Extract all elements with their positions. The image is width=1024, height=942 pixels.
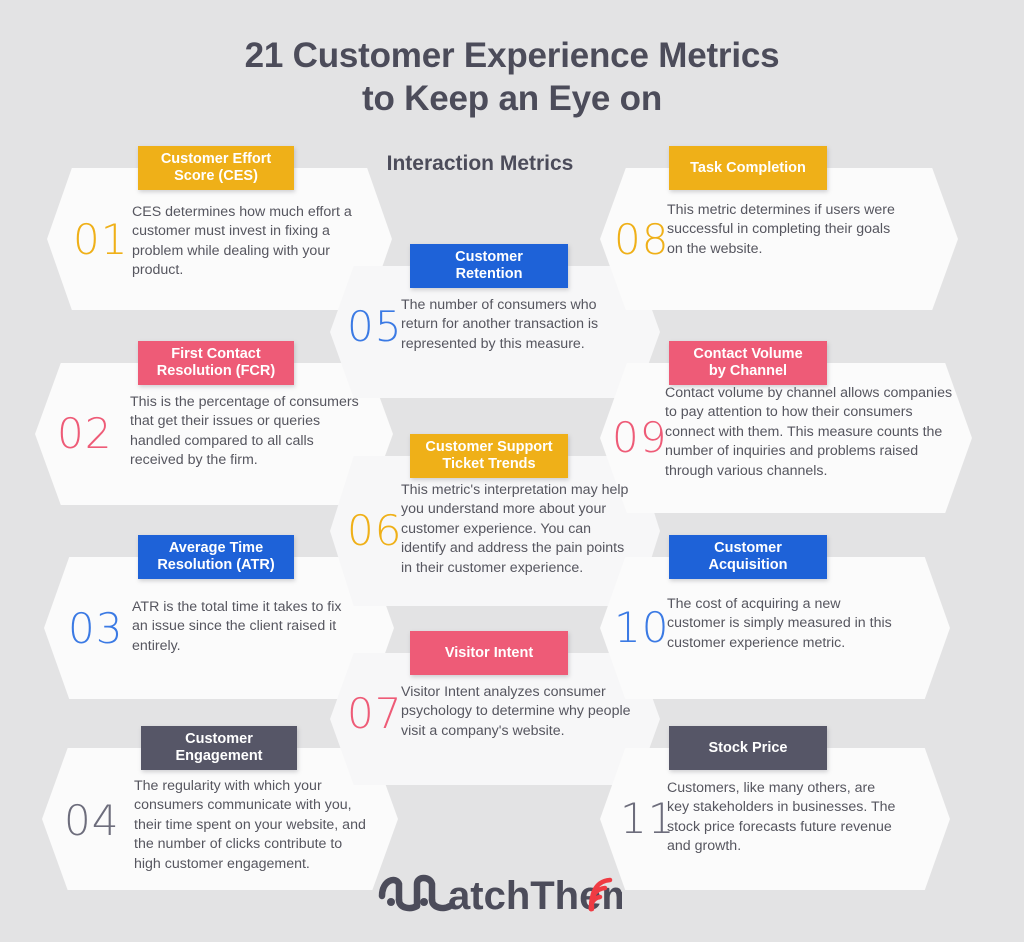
metric-description: ATR is the total time it takes to fix an… xyxy=(132,598,354,656)
metric-number: 09 xyxy=(612,417,667,459)
metric-number: 03 xyxy=(68,608,123,650)
metric-number: 01 xyxy=(73,219,128,261)
section-heading: Interaction Metrics xyxy=(330,152,630,176)
metric-description: Contact volume by channel allows compani… xyxy=(665,384,963,481)
metric-badge: Visitor Intent xyxy=(410,631,568,675)
badge-line-1: Stock Price xyxy=(709,740,788,757)
metric-description: Customers, like many others, are key sta… xyxy=(667,779,897,857)
metric-card-11[interactable]: Stock Price 11 Customers, like many othe… xyxy=(600,748,950,890)
metric-badge: Customer Effort Score (CES) xyxy=(138,146,294,190)
metric-card-10[interactable]: Customer Acquisition 10 The cost of acqu… xyxy=(600,557,950,699)
badge-line-1: Average Time xyxy=(169,540,263,557)
metric-number: 07 xyxy=(347,693,402,735)
metric-card-08[interactable]: Task Completion 08 This metric determine… xyxy=(600,168,958,310)
metric-description: CES determines how much effort a custome… xyxy=(132,203,354,281)
badge-line-1: Customer xyxy=(714,540,782,557)
badge-line-1: Customer Effort xyxy=(161,151,271,168)
badge-line-1: Customer xyxy=(185,731,253,748)
badge-line-1: Visitor Intent xyxy=(445,645,533,662)
badge-line-1: Contact Volume xyxy=(693,346,802,363)
page-title-line-1: 21 Customer Experience Metrics xyxy=(245,36,780,75)
metric-badge: Task Completion xyxy=(669,146,827,190)
badge-line-2: Resolution (FCR) xyxy=(157,363,275,380)
metric-badge: Average Time Resolution (ATR) xyxy=(138,535,294,579)
metric-badge: Contact Volume by Channel xyxy=(669,341,827,385)
metric-number: 06 xyxy=(347,510,402,552)
badge-line-1: Customer Retention xyxy=(420,249,558,283)
page-title: 21 Customer Experience Metrics to Keep a… xyxy=(0,34,1024,120)
metric-badge: First Contact Resolution (FCR) xyxy=(138,341,294,385)
metric-number: 05 xyxy=(347,306,402,348)
badge-line-2: Acquisition xyxy=(709,557,788,574)
badge-line-2: Resolution (ATR) xyxy=(157,557,274,574)
metric-card-09[interactable]: Contact Volume by Channel 09 Contact vol… xyxy=(600,363,972,513)
metric-number: 08 xyxy=(614,219,669,261)
metric-description: This is the percentage of consumers that… xyxy=(130,393,365,471)
badge-line-2: Engagement xyxy=(175,748,262,765)
metric-number: 10 xyxy=(614,607,669,649)
metric-badge: Customer Acquisition xyxy=(669,535,827,579)
logo-eye-left xyxy=(387,898,395,906)
metric-description: This metric determines if users were suc… xyxy=(667,201,899,259)
infographic-canvas: 21 Customer Experience Metrics to Keep a… xyxy=(0,0,1024,942)
badge-line-1: First Contact xyxy=(171,346,260,363)
badge-line-2: Ticket Trends xyxy=(442,456,535,473)
metric-number: 02 xyxy=(57,413,112,455)
badge-line-1: Customer Support xyxy=(425,439,552,456)
metric-description: The regularity with which your consumers… xyxy=(134,777,371,874)
metric-description: Visitor Intent analyzes consumer psychol… xyxy=(401,683,639,741)
metric-badge: Customer Engagement xyxy=(141,726,297,770)
logo-eye-right xyxy=(420,898,428,906)
metric-badge: Customer Support Ticket Trends xyxy=(410,434,568,478)
metric-description: The number of consumers who return for a… xyxy=(401,296,631,354)
metric-badge: Customer Retention xyxy=(410,244,568,288)
badge-line-2: Score (CES) xyxy=(174,168,258,185)
badge-line-1: Task Completion xyxy=(690,160,806,177)
badge-line-2: by Channel xyxy=(709,363,787,380)
metric-description: This metric's interpretation may help yo… xyxy=(401,481,636,578)
metric-number: 04 xyxy=(64,800,119,842)
watchthem-logo[interactable]: atchThem xyxy=(372,862,622,924)
metric-badge: Stock Price xyxy=(669,726,827,770)
metric-description: The cost of acquiring a new customer is … xyxy=(667,595,893,653)
page-title-line-2: to Keep an Eye on xyxy=(0,77,1024,120)
